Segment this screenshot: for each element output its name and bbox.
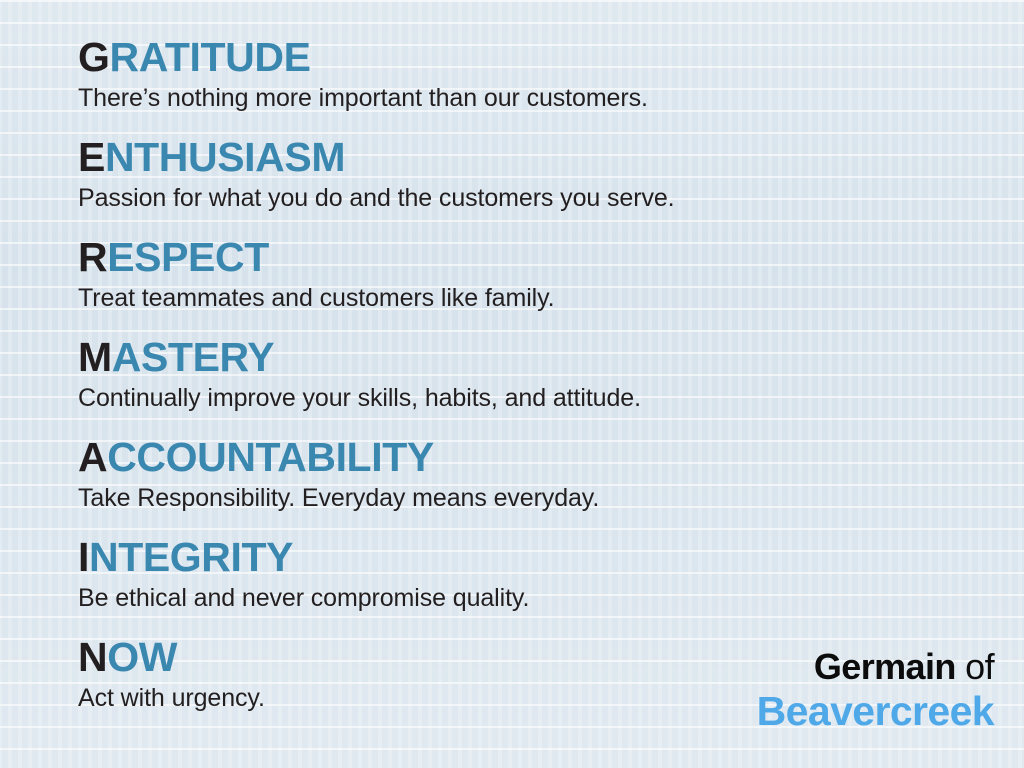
value-description-integrity: Be ethical and never compromise quality. [78, 582, 978, 614]
value-word-gratitude: GRATITUDE [78, 34, 978, 80]
value-entry-accountability: ACCOUNTABILITY Take Responsibility. Ever… [78, 434, 978, 534]
value-initial-letter: I [78, 534, 89, 580]
value-word-remainder: OW [107, 634, 177, 680]
value-initial-letter: A [78, 434, 107, 480]
value-initial-letter: N [78, 634, 107, 680]
value-word-remainder: NTHUSIASM [105, 134, 345, 180]
poster-canvas: GRATITUDE There’s nothing more important… [0, 0, 1024, 768]
value-word-enthusiasm: ENTHUSIASM [78, 134, 978, 180]
logo-location-name: Beavercreek [757, 688, 994, 734]
value-description-mastery: Continually improve your skills, habits,… [78, 382, 978, 414]
value-initial-letter: G [78, 34, 110, 80]
value-entry-respect: RESPECT Treat teammates and customers li… [78, 234, 978, 334]
value-initial-letter: E [78, 134, 105, 180]
value-description-gratitude: There’s nothing more important than our … [78, 82, 978, 114]
value-description-respect: Treat teammates and customers like famil… [78, 282, 978, 314]
value-entry-mastery: MASTERY Continually improve your skills,… [78, 334, 978, 434]
value-word-remainder: RATITUDE [110, 34, 311, 80]
value-word-integrity: INTEGRITY [78, 534, 978, 580]
logo-line-primary: Germain of [757, 646, 994, 688]
value-initial-letter: M [78, 334, 112, 380]
value-word-remainder: NTEGRITY [89, 534, 293, 580]
value-word-remainder: ESPECT [107, 234, 269, 280]
logo-connector-word: of [956, 646, 994, 687]
value-word-mastery: MASTERY [78, 334, 978, 380]
value-description-accountability: Take Responsibility. Everyday means ever… [78, 482, 978, 514]
dealership-logo: Germain of Beavercreek [757, 646, 994, 734]
value-word-accountability: ACCOUNTABILITY [78, 434, 978, 480]
value-word-respect: RESPECT [78, 234, 978, 280]
value-initial-letter: R [78, 234, 107, 280]
value-word-remainder: CCOUNTABILITY [107, 434, 434, 480]
core-values-list: GRATITUDE There’s nothing more important… [78, 34, 978, 734]
value-entry-integrity: INTEGRITY Be ethical and never compromis… [78, 534, 978, 634]
value-word-remainder: ASTERY [112, 334, 274, 380]
value-entry-enthusiasm: ENTHUSIASM Passion for what you do and t… [78, 134, 978, 234]
value-entry-gratitude: GRATITUDE There’s nothing more important… [78, 34, 978, 134]
value-description-enthusiasm: Passion for what you do and the customer… [78, 182, 978, 214]
logo-brand-name: Germain [814, 646, 956, 687]
